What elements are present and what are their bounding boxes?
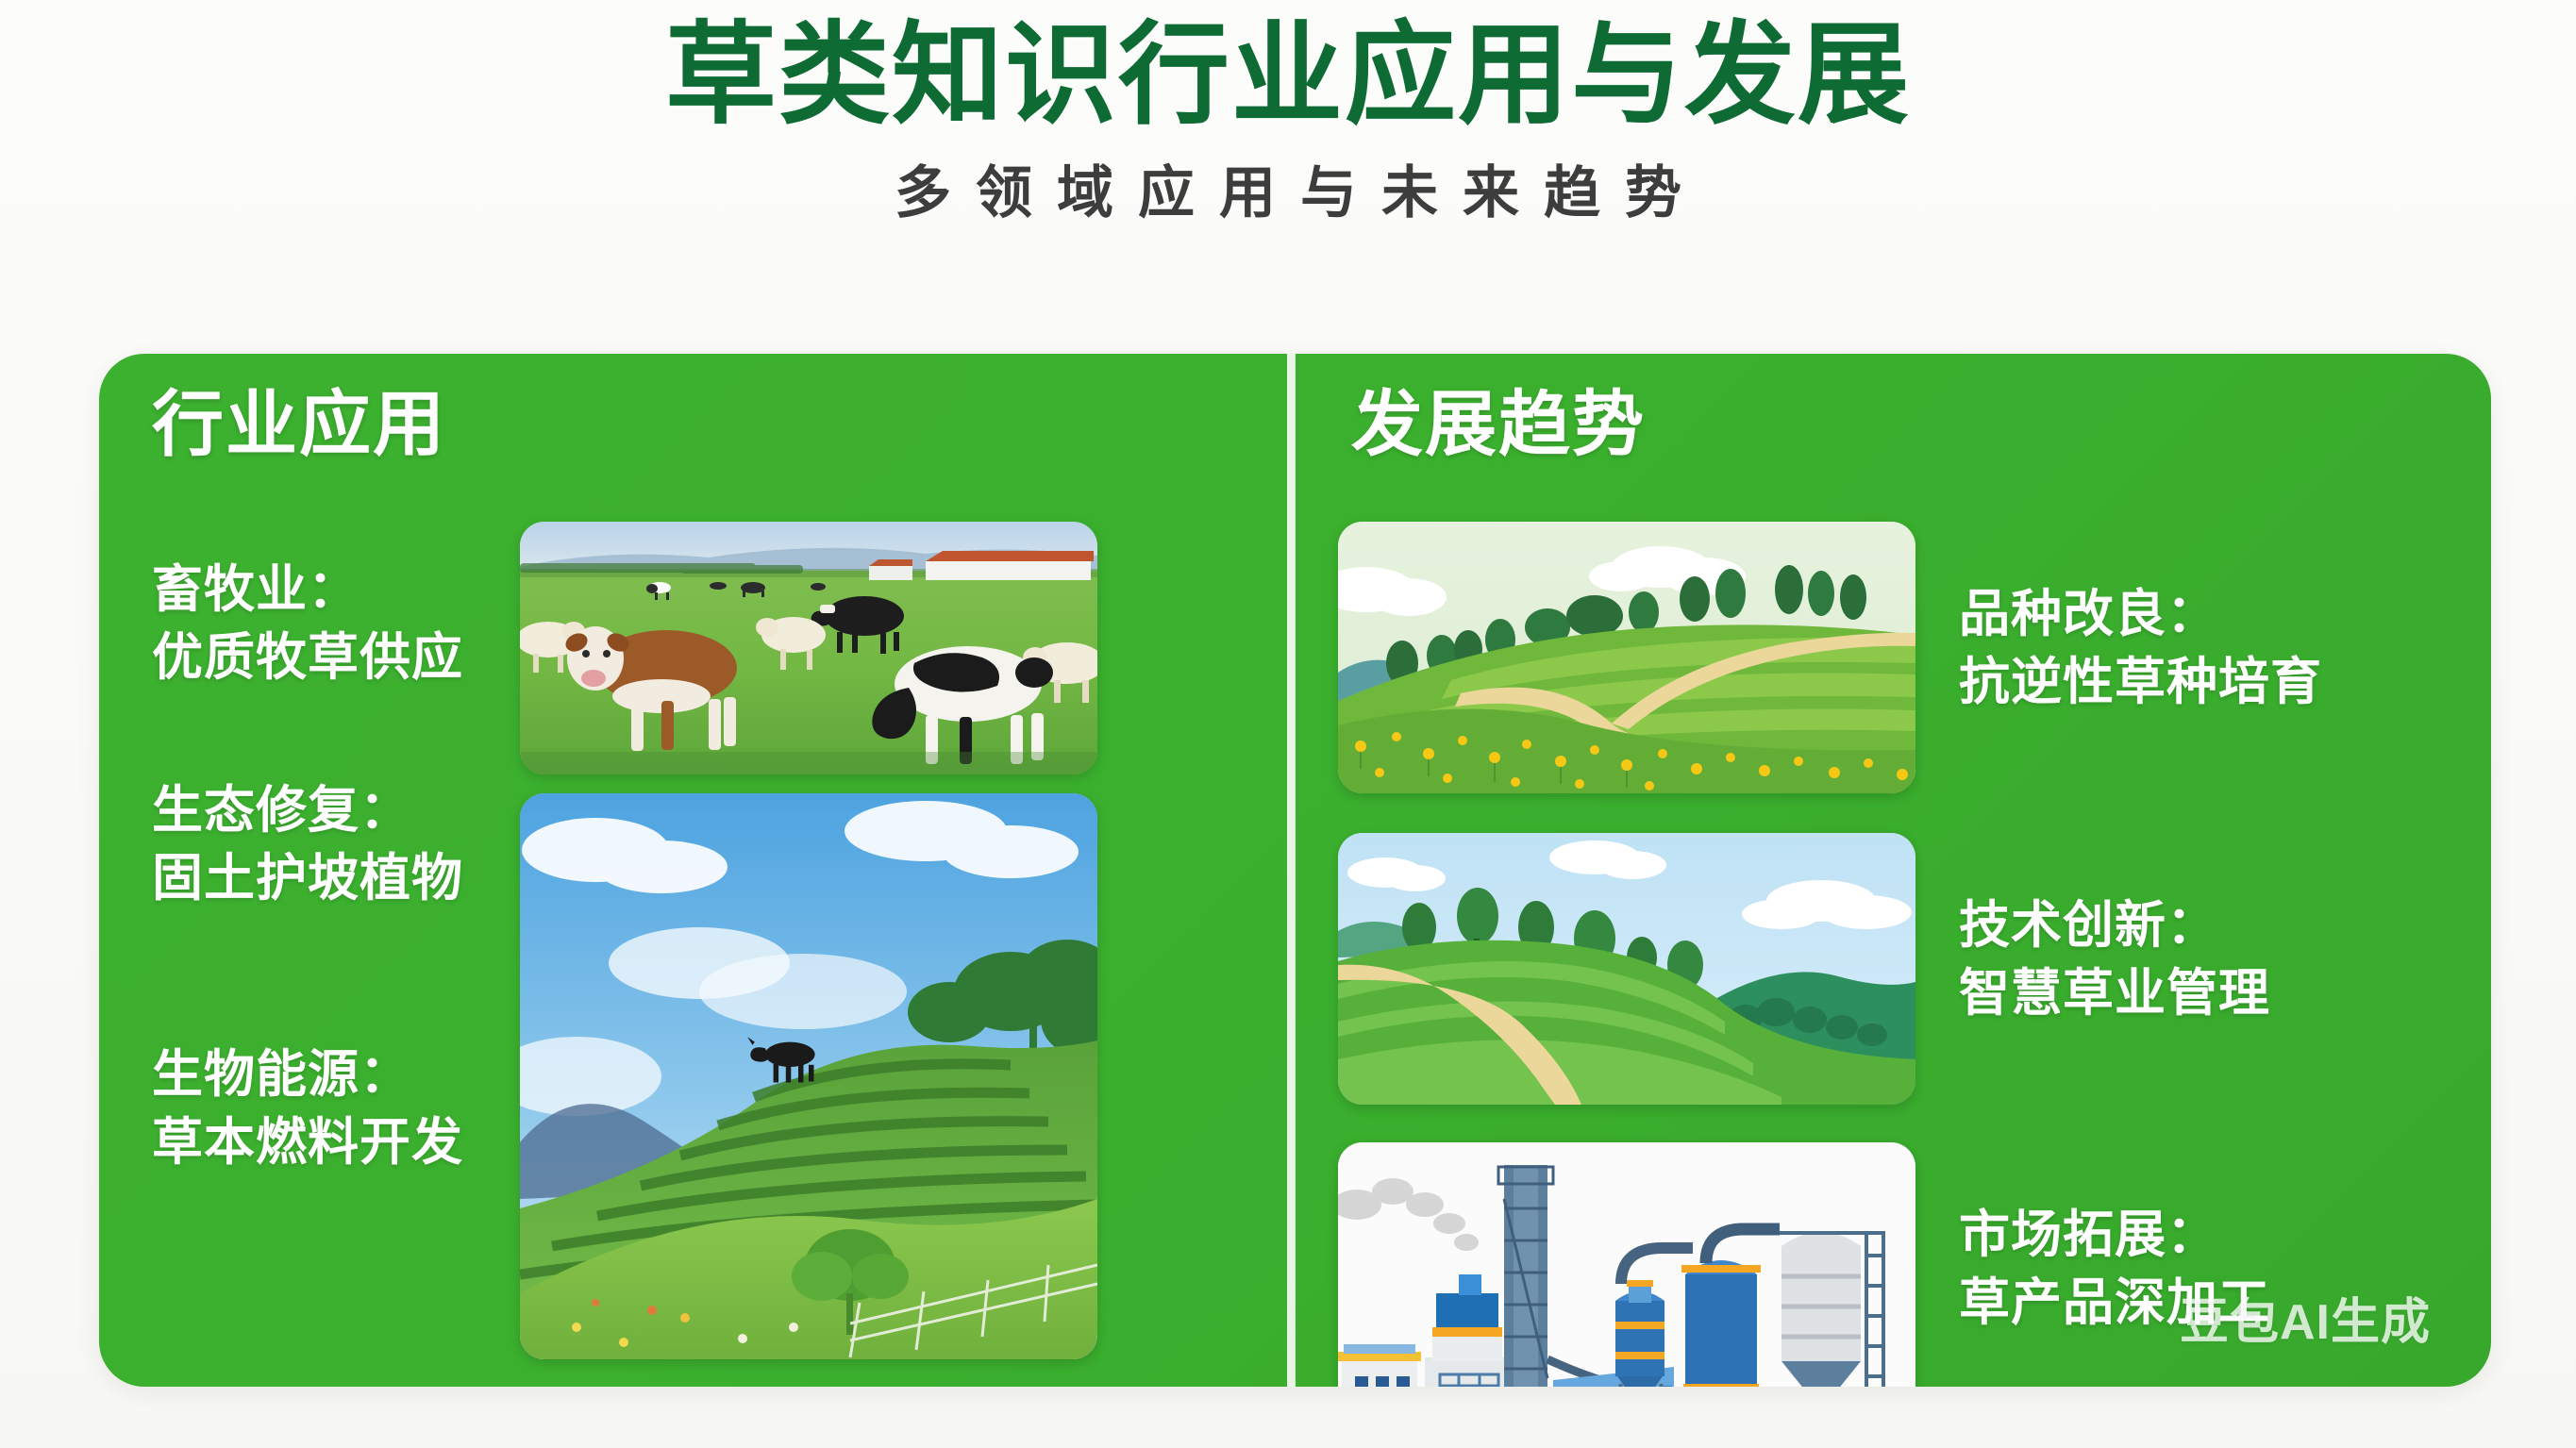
item-label: 畜牧业：: [152, 561, 360, 618]
list-item[interactable]: 畜牧业： 优质牧草供应: [152, 556, 456, 692]
processing-factory-illustration: [1338, 1142, 1915, 1387]
list-item[interactable]: 市场拓展： 草产品深加工: [1959, 1201, 2270, 1338]
item-detail: 抗逆性草种培育: [1959, 648, 2322, 716]
pasture-cattle-photo: [520, 522, 1097, 774]
header: 草类知识行业应用与发展 多领域应用与未来趋势: [0, 13, 2576, 229]
list-item[interactable]: 生态修复： 固土护坡植物: [152, 776, 456, 913]
list-item[interactable]: 生物能源： 草本燃料开发: [152, 1040, 456, 1177]
item-detail: 优质牧草供应: [152, 624, 456, 691]
item-text: 品种改良： 抗逆性草种培育: [1959, 580, 2322, 717]
panel-development-trends: 发展趋势: [1287, 354, 2491, 1387]
list-item[interactable]: 品种改良： 抗逆性草种培育: [1959, 580, 2322, 717]
item-text: 市场拓展： 草产品深加工: [1959, 1201, 2270, 1338]
right-items-grid: 品种改良： 抗逆性草种培育 技术创新： 智慧草业管理 市场拓展： 草产品深加工: [1325, 465, 2453, 1387]
green-hills-path-illustration: [1338, 833, 1915, 1105]
left-items-grid: 畜牧业： 优质牧草供应 生态修复： 固土护坡植物 生物能源： 草本燃料开发: [152, 465, 1287, 1387]
item-text: 生态修复： 固土护坡植物: [152, 776, 456, 913]
item-text: 生物能源： 草本燃料开发: [152, 1040, 456, 1177]
item-text: 畜牧业： 优质牧草供应: [152, 556, 456, 692]
item-detail: 固土护坡植物: [152, 844, 456, 912]
panel-industry-applications: 行业应用 畜牧业： 优质牧草供应 生态修复： 固土护坡植物: [99, 354, 1287, 1387]
item-label: 生物能源：: [152, 1046, 411, 1103]
panel-right-heading: 发展趋势: [1351, 386, 2453, 465]
infographic-page: 草类知识行业应用与发展 多领域应用与未来趋势 行业应用 畜牧业： 优质牧草供应 …: [0, 0, 2576, 1448]
item-label: 品种改良：: [1959, 586, 2218, 642]
content-card: 行业应用 畜牧业： 优质牧草供应 生态修复： 固土护坡植物: [99, 354, 2491, 1387]
item-label: 技术创新：: [1959, 897, 2218, 954]
page-subtitle: 多领域应用与未来趋势: [0, 147, 2576, 229]
item-detail: 智慧草业管理: [1959, 959, 2270, 1027]
item-text: 技术创新： 智慧草业管理: [1959, 891, 2270, 1028]
terraced-hillside-photo: [520, 793, 1097, 1359]
item-label: 生态修复：: [152, 782, 411, 839]
panel-left-heading: 行业应用: [152, 386, 1287, 465]
page-title: 草类知识行业应用与发展: [0, 13, 2576, 138]
item-detail: 草产品深加工: [1959, 1269, 2270, 1337]
item-label: 市场拓展：: [1959, 1207, 2218, 1263]
item-detail: 草本燃料开发: [152, 1108, 456, 1176]
list-item[interactable]: 技术创新： 智慧草业管理: [1959, 891, 2270, 1028]
flower-meadow-farmland-illustration: [1338, 522, 1915, 793]
